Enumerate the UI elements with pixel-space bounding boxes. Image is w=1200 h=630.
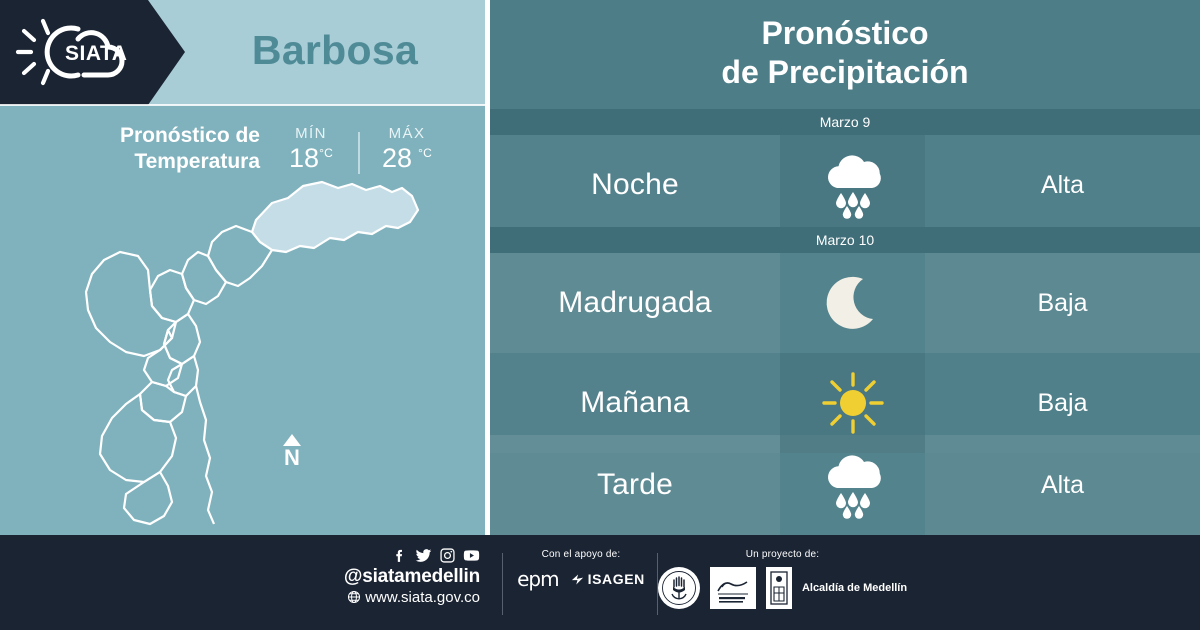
forecast-period-label: Mañana [580, 386, 690, 420]
support-label: Con el apoyo de: [516, 549, 646, 560]
siata-logo-tag[interactable]: SIATA [0, 0, 185, 105]
city-title: Barbosa [185, 0, 485, 105]
header-divider [0, 104, 485, 106]
temperature-min-value: 18 [289, 143, 319, 173]
weather-forecast-poster: SIATA Barbosa [0, 0, 1200, 630]
temperature-max-value: 28 [382, 143, 412, 173]
forecast-row-noche[interactable]: Noche Alta [490, 135, 1200, 235]
temperature-title-line2: Temperatura [134, 150, 260, 173]
sun-icon [816, 366, 890, 440]
support-logos: epm ISAGEN [516, 567, 646, 591]
forecast-probability-cell: Alta [925, 135, 1200, 235]
epm-logo: epm [517, 567, 558, 591]
forecast-probability-label: Alta [1041, 171, 1084, 200]
social-block: @siatamedellin www.siata.gov.co [300, 547, 480, 606]
project-label: Un proyecto de: [670, 549, 895, 560]
precipitation-title-line2: de Precipitación [721, 54, 968, 90]
map-region-caldas [100, 394, 176, 482]
youtube-icon[interactable] [463, 547, 480, 564]
left-header: SIATA Barbosa [0, 0, 485, 105]
map-region-itagui [144, 330, 182, 386]
map-region-medellin [86, 252, 176, 356]
sun-cloud-icon: SIATA [12, 12, 138, 92]
precipitation-title-line1: Pronóstico [761, 15, 928, 51]
isagen-logo: ISAGEN [570, 571, 645, 587]
footer-divider-1 [502, 553, 503, 615]
temperature-block: Pronóstico de Temperatura MÍN 18°C MÁX 2… [0, 113, 485, 185]
udea-seal-art [658, 567, 700, 609]
globe-icon [347, 590, 361, 604]
forecast-row-tarde[interactable]: Tarde Alta [490, 435, 1200, 535]
alcaldia-medellin-art [766, 567, 792, 609]
forecast-probability-label: Alta [1041, 471, 1084, 500]
isagen-text: ISAGEN [588, 571, 645, 587]
compass-north-label: N [277, 447, 307, 469]
alcaldia-medellin-icon [766, 567, 792, 609]
temperature-title-line1: Pronóstico de [120, 124, 260, 147]
forecast-probability-label: Baja [1037, 389, 1087, 418]
udea-seal-icon [658, 567, 700, 609]
support-section: Con el apoyo de: epm ISAGEN [516, 549, 646, 591]
crescent-moon-icon [816, 266, 890, 340]
temperature-min: MÍN 18°C [278, 125, 344, 174]
date-band-marzo-9: Marzo 9 [490, 109, 1200, 135]
temperature-title: Pronóstico de Temperatura [0, 123, 278, 175]
twitter-icon[interactable] [415, 547, 432, 564]
temperature-max: MÁX 28°C [374, 125, 440, 174]
map-region-laestrella [140, 382, 186, 422]
instagram-icon[interactable] [439, 547, 456, 564]
footer: @siatamedellin www.siata.gov.co Con el a… [0, 535, 1200, 630]
svg-text:SIATA: SIATA [65, 42, 127, 65]
temperature-panel: SIATA Barbosa [0, 0, 485, 535]
website-row[interactable]: www.siata.gov.co [300, 589, 480, 606]
temperature-min-value-group: 18°C [289, 143, 333, 174]
forecast-row-madrugada[interactable]: Madrugada Baja [490, 253, 1200, 353]
forecast-icon-cell [780, 435, 925, 535]
temperature-min-unit: °C [319, 146, 333, 160]
forecast-period-label: Madrugada [558, 286, 712, 320]
area-metropolitana-art [710, 567, 756, 609]
forecast-probability-cell: Alta [925, 435, 1200, 535]
isagen-mark-icon [570, 572, 585, 587]
precipitation-title: Pronóstico de Precipitación [490, 14, 1200, 92]
area-metropolitana-icon [710, 567, 756, 609]
date-band-marzo-10: Marzo 10 [490, 227, 1200, 253]
website-url: www.siata.gov.co [365, 589, 480, 606]
social-handle[interactable]: @siatamedellin [300, 567, 480, 588]
project-section: Un proyecto de: [670, 549, 895, 609]
forecast-icon-cell [780, 135, 925, 235]
forecast-period-cell: Noche [490, 135, 780, 235]
rain-cloud-icon [816, 448, 890, 522]
forecast-period-cell: Tarde [490, 435, 780, 535]
temperature-min-label: MÍN [295, 125, 327, 142]
forecast-period-cell: Madrugada [490, 253, 780, 353]
project-logos: Alcaldía de Medellín [670, 567, 895, 609]
temperature-max-label: MÁX [389, 125, 426, 142]
map-region-copacabana [182, 252, 226, 304]
social-icons [300, 547, 480, 564]
temperature-divider [358, 132, 360, 174]
compass-rose: N [277, 434, 307, 469]
panel-separator [485, 0, 490, 535]
map-region-barbosa [252, 182, 418, 252]
forecast-period-label: Tarde [597, 468, 673, 502]
alcaldia-label: Alcaldía de Medellín [802, 582, 907, 594]
facebook-icon[interactable] [391, 547, 408, 564]
forecast-probability-cell: Baja [925, 253, 1200, 353]
forecast-period-label: Noche [591, 168, 679, 202]
precipitation-panel: Pronóstico de Precipitación Marzo 9 Marz… [490, 0, 1200, 535]
map-region-divider-line [196, 386, 214, 524]
rain-cloud-icon [816, 148, 890, 222]
temperature-max-unit: °C [418, 146, 432, 160]
temperature-max-value-group: 28°C [382, 143, 432, 174]
forecast-probability-label: Baja [1037, 289, 1087, 318]
forecast-icon-cell [780, 253, 925, 353]
